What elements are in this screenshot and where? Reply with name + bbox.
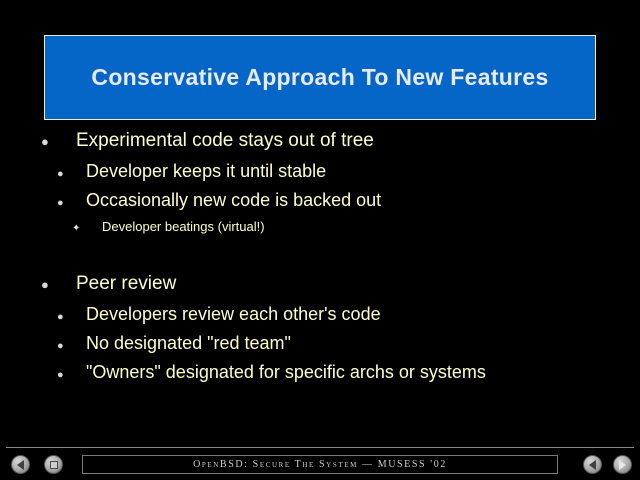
dot-bullet-icon: ●: [57, 341, 86, 352]
slide-canvas: Conservative Approach To New Features ●E…: [0, 0, 640, 480]
bullet-spacer: [0, 247, 640, 273]
bullet-item-label: Experimental code stays out of tree: [76, 130, 374, 152]
dot-bullet-icon: ●: [41, 135, 76, 148]
bullet-item: ●Experimental code stays out of tree: [0, 130, 640, 161]
page-title: Conservative Approach To New Features: [91, 64, 548, 91]
dot-bullet-icon: ●: [57, 169, 86, 180]
slide-title-banner: Conservative Approach To New Features: [44, 35, 596, 120]
bullet-item: ●Developers review each other's code: [0, 304, 640, 333]
bullet-item-label: Developer keeps it until stable: [86, 161, 326, 182]
square-icon: [50, 461, 58, 469]
bullet-item: ●Peer review: [0, 273, 640, 304]
bullet-item-label: "Owners" designated for specific archs o…: [86, 362, 486, 383]
bullet-item: ●Occasionally new code is backed out: [0, 190, 640, 219]
bullet-item: ●No designated "red team": [0, 333, 640, 362]
previous-slide-button[interactable]: [583, 455, 602, 474]
dot-bullet-icon: ●: [57, 312, 86, 323]
bullet-item: ✦Developer beatings (virtual!): [0, 219, 640, 247]
bullet-item-label: Occasionally new code is backed out: [86, 190, 381, 211]
bullet-item-label: Developers review each other's code: [86, 304, 381, 325]
stop-button[interactable]: [44, 455, 63, 474]
triangle-left-icon: [17, 460, 24, 470]
footer-divider: [6, 447, 634, 448]
bullet-item-label: Developer beatings (virtual!): [102, 219, 265, 234]
triangle-right-icon: [619, 460, 626, 470]
dot-bullet-icon: ●: [41, 278, 76, 291]
footer-bar: OpenBSD: Secure The System — MUSESS '02: [0, 452, 640, 478]
bullet-item: ●Developer keeps it until stable: [0, 161, 640, 190]
bullet-item: ●"Owners" designated for specific archs …: [0, 362, 640, 391]
bullet-item-label: Peer review: [76, 273, 176, 295]
bullet-item-label: No designated "red team": [86, 333, 291, 354]
bullet-list: ●Experimental code stays out of tree●Dev…: [0, 130, 640, 391]
first-slide-button[interactable]: [11, 455, 30, 474]
dot-bullet-icon: ●: [57, 198, 86, 209]
triangle-left-icon: [589, 460, 596, 470]
footer-caption-box: OpenBSD: Secure The System — MUSESS '02: [82, 455, 558, 474]
next-slide-button[interactable]: [613, 455, 632, 474]
diamond-bullet-icon: ✦: [72, 224, 102, 234]
dot-bullet-icon: ●: [57, 370, 86, 381]
footer-caption: OpenBSD: Secure The System — MUSESS '02: [193, 459, 447, 470]
